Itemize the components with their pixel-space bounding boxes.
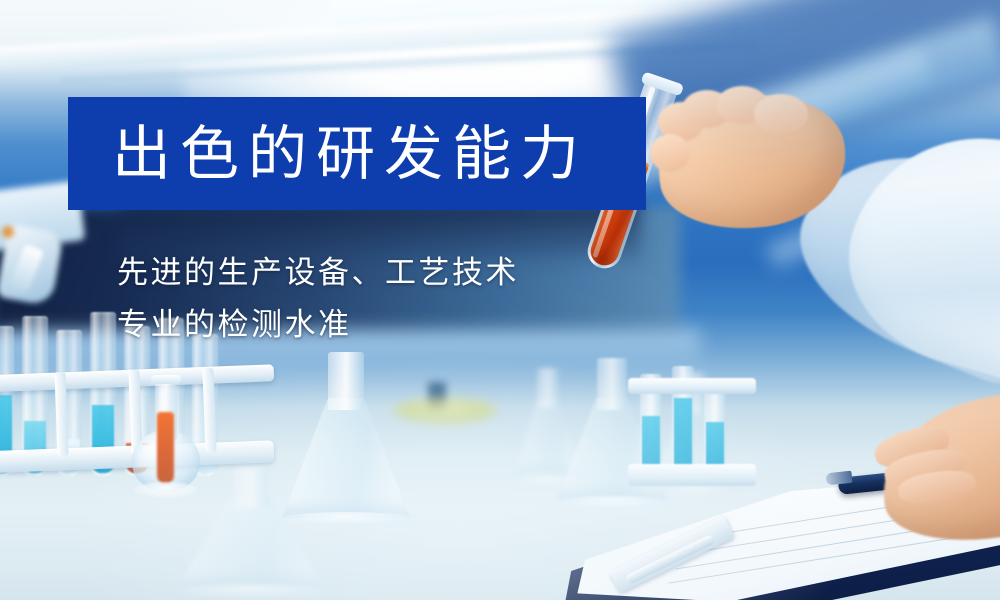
erlenmeyer-flask-icon: [176, 468, 326, 596]
hand-holding-test-tube-icon: [630, 60, 1000, 360]
rack-bar-top: [628, 378, 756, 394]
flask-lip: [151, 375, 181, 384]
thumb: [650, 134, 690, 172]
subtitle-line-1: 先进的生产设备、工艺技术: [117, 247, 519, 299]
headline-banner: 出色的研发能力: [68, 97, 646, 210]
subtitle-line-2: 专业的检测水准: [117, 299, 519, 351]
finger: [754, 94, 808, 134]
page-title: 出色的研发能力: [112, 124, 588, 183]
test-tube-rack-right-icon: [628, 372, 756, 508]
subtitle-block: 先进的生产设备、工艺技术 专业的检测水准: [117, 247, 519, 351]
lab-coat: [825, 107, 1000, 400]
lab-hero-banner: 出色的研发能力 先进的生产设备、工艺技术 专业的检测水准: [0, 0, 1000, 600]
rack-bar-bottom: [628, 464, 756, 486]
microscope-lamp: [2, 226, 14, 238]
